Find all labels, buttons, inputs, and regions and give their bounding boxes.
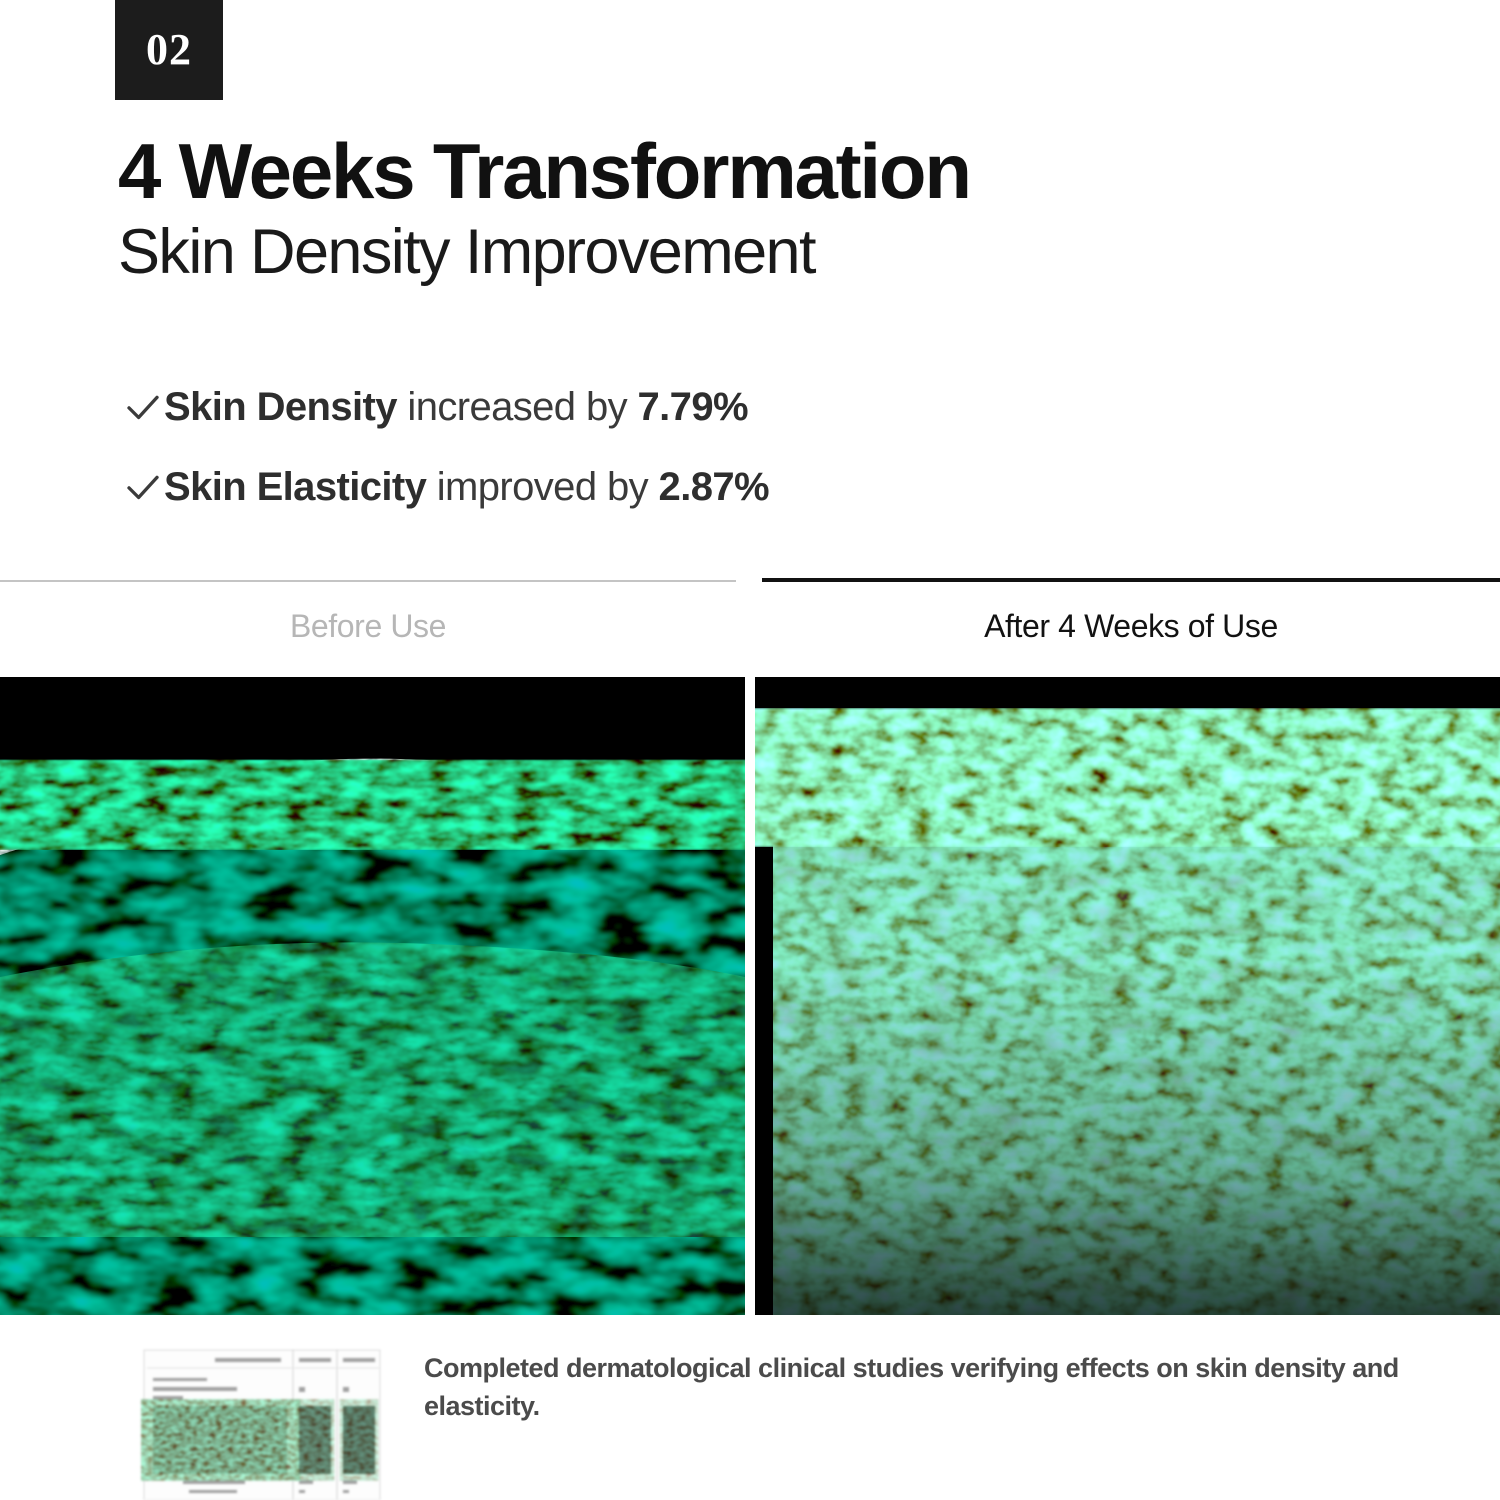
page-title: 4 Weeks Transformation — [118, 133, 1418, 209]
check-icon — [122, 466, 164, 508]
before-panel-label: Before Use — [0, 608, 736, 645]
before-panel-rule — [0, 580, 736, 582]
clinical-study-document-thumbnail — [141, 1348, 383, 1500]
claim-item: Skin Density increased by 7.79% — [122, 378, 1222, 436]
claim-value: 7.79% — [638, 385, 748, 429]
after-panel-label: After 4 Weeks of Use — [762, 608, 1500, 645]
claim-item: Skin Elasticity improved by 2.87% — [122, 458, 1222, 516]
before-scan-graphic — [0, 677, 745, 1315]
section-number-badge: 02 — [115, 0, 223, 100]
section-number-label: 02 — [146, 28, 192, 72]
claim-value: 2.87% — [659, 465, 769, 509]
after-panel-rule — [762, 578, 1500, 582]
page-subtitle: Skin Density Improvement — [118, 219, 1418, 285]
claim-verb: increased by — [397, 385, 638, 429]
after-scan-image — [755, 677, 1500, 1315]
heading-block: 4 Weeks Transformation Skin Density Impr… — [118, 133, 1418, 286]
footnote-text: Completed dermatological clinical studie… — [424, 1349, 1424, 1426]
claim-text: Skin Density increased by 7.79% — [164, 385, 748, 429]
check-icon — [122, 386, 164, 428]
after-scan-graphic — [755, 677, 1500, 1315]
claims-list: Skin Density increased by 7.79% Skin Ela… — [122, 378, 1222, 538]
claim-metric: Skin Density — [164, 385, 397, 429]
claim-metric: Skin Elasticity — [164, 465, 426, 509]
document-thumbnail-graphic — [141, 1348, 383, 1500]
claim-verb: improved by — [426, 465, 658, 509]
before-scan-image — [0, 677, 745, 1315]
claim-text: Skin Elasticity improved by 2.87% — [164, 465, 769, 509]
